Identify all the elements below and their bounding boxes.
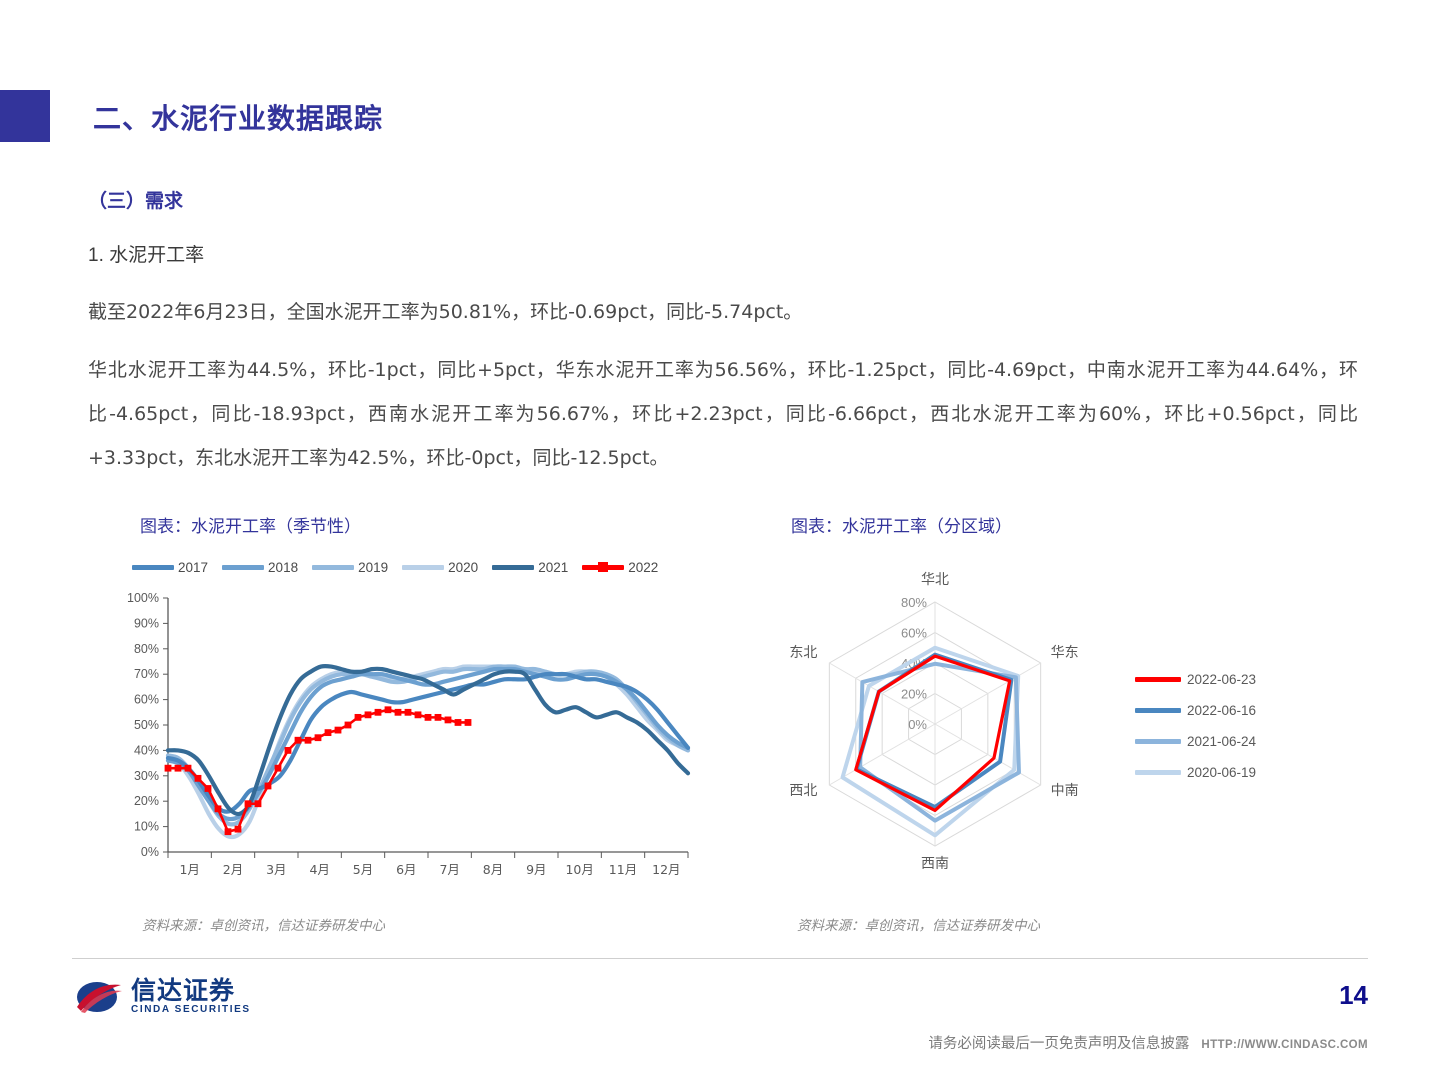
svg-text:2月: 2月 <box>223 862 243 877</box>
legend-swatch-2022 <box>582 565 624 570</box>
legend-seasonal: 2017 2018 2019 2020 2021 2022 <box>132 560 672 575</box>
legend-label-2018: 2018 <box>268 560 298 575</box>
chart-panel-seasonal: 图表：水泥开工率（季节性） 2017 2018 2019 2020 2021 2… <box>110 512 710 952</box>
svg-text:5月: 5月 <box>353 862 373 877</box>
svg-text:30%: 30% <box>134 769 159 783</box>
legend-item-2018[interactable]: 2018 <box>222 560 298 575</box>
svg-text:8月: 8月 <box>483 862 503 877</box>
page-title: 二、水泥行业数据跟踪 <box>93 97 383 137</box>
svg-text:东北: 东北 <box>789 645 817 661</box>
subsection-title: （三）需求 <box>88 186 183 213</box>
legend-item-2022-06-23[interactable]: 2022-06-23 <box>1135 672 1256 687</box>
svg-text:华东: 华东 <box>1051 645 1079 661</box>
paragraph-summary: 截至2022年6月23日，全国水泥开工率为50.81%，环比-0.69pct，同… <box>88 290 1358 334</box>
region-radar-chart: 0%20%40%60%80%华北华东中南西南西北东北 <box>775 552 1135 902</box>
svg-text:80%: 80% <box>134 642 159 656</box>
legend-swatch-2021-06-24 <box>1135 739 1181 744</box>
legend-label-2022-06-23: 2022-06-23 <box>1187 672 1256 687</box>
legend-item-2019[interactable]: 2019 <box>312 560 388 575</box>
svg-text:50%: 50% <box>134 718 159 732</box>
svg-text:中南: 中南 <box>1051 783 1079 799</box>
paragraph-regional: 华北水泥开工率为44.5%，环比-1pct，同比+5pct，华东水泥开工率为56… <box>88 348 1358 480</box>
legend-swatch-2019 <box>312 565 354 570</box>
topic-title: 1. 水泥开工率 <box>88 240 204 267</box>
legend-label-2022: 2022 <box>628 560 658 575</box>
svg-text:20%: 20% <box>134 794 159 808</box>
svg-text:9月: 9月 <box>526 862 546 877</box>
section-accent-bar <box>0 90 50 142</box>
legend-item-2017[interactable]: 2017 <box>132 560 208 575</box>
svg-text:华北: 华北 <box>921 572 949 588</box>
chart-panel-region: 图表：水泥开工率（分区域） 0%20%40%60%80%华北华东中南西南西北东北… <box>775 512 1375 952</box>
footer-divider <box>72 958 1368 959</box>
footer-disclaimer: 请务必阅读最后一页免责声明及信息披露 <box>928 1032 1189 1053</box>
svg-text:20%: 20% <box>901 687 927 702</box>
legend-label-2020: 2020 <box>448 560 478 575</box>
chart-caption-region: 图表：水泥开工率（分区域） <box>791 512 1375 537</box>
svg-text:4月: 4月 <box>309 862 329 877</box>
svg-text:40%: 40% <box>134 743 159 757</box>
cinda-logo-icon <box>75 979 123 1015</box>
logo-text-en: CINDA SECURITIES <box>131 1005 251 1015</box>
svg-text:10月: 10月 <box>565 862 593 877</box>
svg-text:60%: 60% <box>901 626 927 641</box>
legend-item-2021-06-24[interactable]: 2021-06-24 <box>1135 734 1256 749</box>
svg-text:11月: 11月 <box>609 862 637 877</box>
legend-item-2020-06-19[interactable]: 2020-06-19 <box>1135 765 1256 780</box>
svg-text:0%: 0% <box>908 717 927 732</box>
svg-text:12月: 12月 <box>652 862 680 877</box>
svg-text:0%: 0% <box>141 845 159 859</box>
legend-swatch-2022-06-23 <box>1135 677 1181 682</box>
legend-swatch-2022-06-16 <box>1135 708 1181 713</box>
legend-swatch-2018 <box>222 565 264 570</box>
legend-item-2020[interactable]: 2020 <box>402 560 478 575</box>
legend-label-2017: 2017 <box>178 560 208 575</box>
chart-source-seasonal: 资料来源：卓创资讯，信达证券研发中心 <box>142 914 385 934</box>
svg-text:10%: 10% <box>134 820 159 834</box>
svg-text:西北: 西北 <box>789 783 817 799</box>
legend-label-2021: 2021 <box>538 560 568 575</box>
logo-text-cn: 信达证券 <box>131 978 251 1003</box>
footer-note: 请务必阅读最后一页免责声明及信息披露 HTTP://WWW.CINDASC.CO… <box>928 1032 1368 1053</box>
svg-text:70%: 70% <box>134 667 159 681</box>
legend-item-2022[interactable]: 2022 <box>582 560 658 575</box>
svg-text:100%: 100% <box>127 591 159 605</box>
legend-swatch-2020-06-19 <box>1135 770 1181 775</box>
svg-text:3月: 3月 <box>266 862 286 877</box>
legend-swatch-2017 <box>132 565 174 570</box>
svg-text:90%: 90% <box>134 616 159 630</box>
legend-label-2021-06-24: 2021-06-24 <box>1187 734 1256 749</box>
chart-source-region: 资料来源：卓创资讯，信达证券研发中心 <box>797 914 1040 934</box>
legend-item-2022-06-16[interactable]: 2022-06-16 <box>1135 703 1256 718</box>
legend-label-2020-06-19: 2020-06-19 <box>1187 765 1256 780</box>
legend-swatch-2020 <box>402 565 444 570</box>
legend-label-2019: 2019 <box>358 560 388 575</box>
svg-text:7月: 7月 <box>439 862 459 877</box>
legend-region: 2022-06-23 2022-06-16 2021-06-24 2020-06… <box>1135 672 1256 796</box>
legend-item-2021[interactable]: 2021 <box>492 560 568 575</box>
svg-text:80%: 80% <box>901 595 927 610</box>
svg-text:6月: 6月 <box>396 862 416 877</box>
svg-text:60%: 60% <box>134 693 159 707</box>
seasonal-line-chart: 0%10%20%30%40%50%60%70%80%90%100%1月2月3月4… <box>110 590 700 900</box>
legend-swatch-2021 <box>492 565 534 570</box>
legend-label-2022-06-16: 2022-06-16 <box>1187 703 1256 718</box>
svg-text:西南: 西南 <box>921 856 949 872</box>
page-number: 14 <box>1339 980 1368 1011</box>
footer-url[interactable]: HTTP://WWW.CINDASC.COM <box>1201 1039 1368 1051</box>
svg-text:1月: 1月 <box>179 862 199 877</box>
company-logo: 信达证券 CINDA SECURITIES <box>75 978 251 1015</box>
chart-caption-seasonal: 图表：水泥开工率（季节性） <box>140 512 710 537</box>
